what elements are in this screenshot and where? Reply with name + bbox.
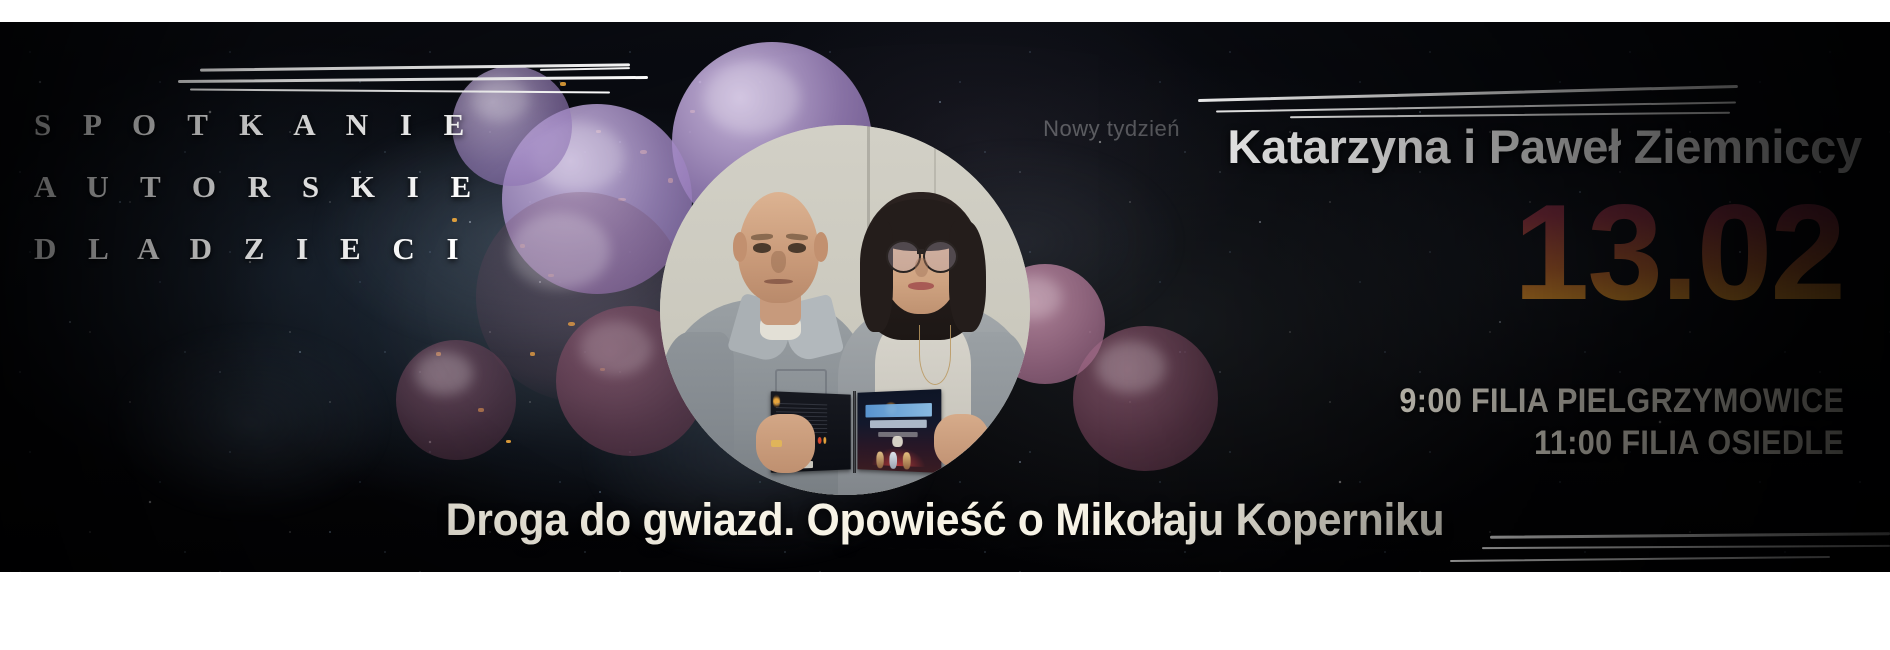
male-hand	[756, 414, 815, 473]
event-poster: S P O T K A N I E A U T O R S K I E D L …	[0, 22, 1890, 572]
background-watermark: Nowy tydzień	[1043, 116, 1180, 142]
necklace	[919, 325, 951, 385]
event-time-line-1: 9:00 FILIA PIELGRZYMOWICE	[1399, 380, 1844, 422]
balloon-faint-center	[476, 192, 686, 402]
left-heading-line-2: A U T O R S K I E	[34, 156, 454, 218]
bottom-white-band	[0, 572, 1890, 650]
event-times: 9:00 FILIA PIELGRZYMOWICE 11:00 FILIA OS…	[1399, 380, 1844, 464]
book-front-cover	[858, 389, 942, 473]
authors-name: Katarzyna i Paweł Ziemniccy	[1227, 119, 1862, 174]
wedding-ring	[771, 440, 782, 447]
eyeglasses-right-lens	[923, 240, 958, 274]
authors-photo	[660, 125, 1030, 495]
left-heading: S P O T K A N I E A U T O R S K I E D L …	[34, 94, 454, 280]
event-time-line-2: 11:00 FILIA OSIEDLE	[1399, 422, 1844, 464]
top-white-band	[0, 0, 1890, 22]
left-heading-line-1: S P O T K A N I E	[34, 94, 454, 156]
event-date: 13.02	[1514, 184, 1844, 320]
female-hand	[934, 414, 990, 470]
book-title: Droga do gwiazd. Opowieść o Mikołaju Kop…	[47, 494, 1843, 546]
poster-frame: S P O T K A N I E A U T O R S K I E D L …	[0, 0, 1890, 650]
left-heading-line-3: D L A D Z I E C I	[34, 218, 454, 280]
